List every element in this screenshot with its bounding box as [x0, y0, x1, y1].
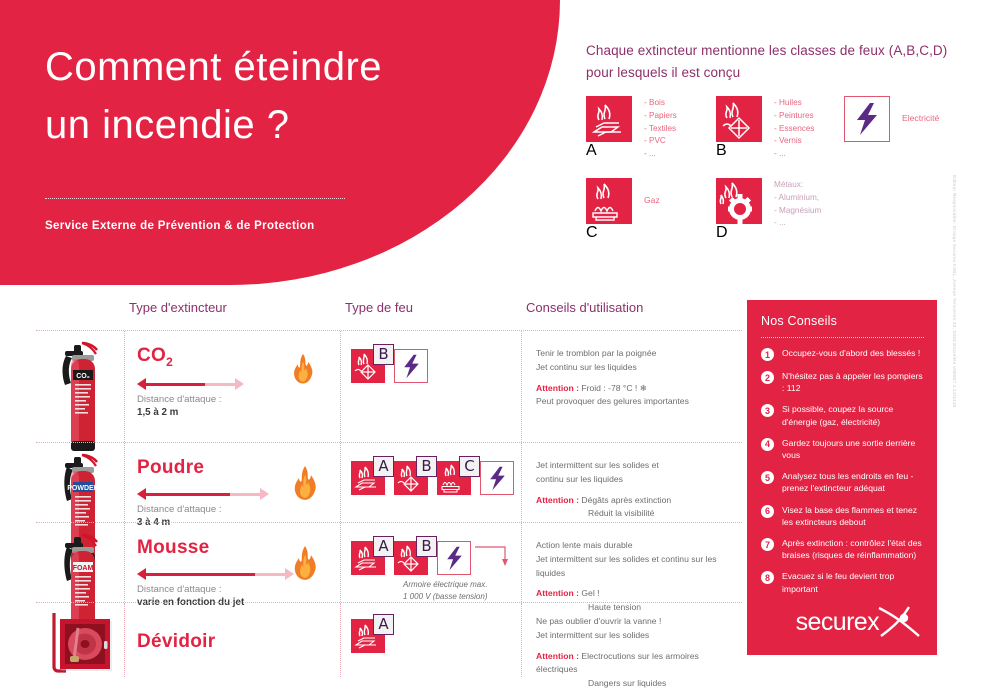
tip-text: Visez la base des flammes et tenez les e… — [782, 504, 924, 528]
tip-item: 1 Occupez-vous d'abord des blessés ! — [761, 347, 924, 361]
tip-item: 5 Analysez tous les endroits en feu - pr… — [761, 470, 924, 494]
advice-line: Jet intermittent sur les solides et cont… — [536, 553, 742, 567]
table-row: CO₂ CO2 Distance d'attaque : 1,5 à 2 m — [36, 330, 742, 442]
tip-text: N'hésitez pas à appeler les pompiers : 1… — [782, 370, 924, 394]
electric-cabinet-note: Armoire électrique max. 1 000 V (basse t… — [403, 579, 525, 602]
tip-text: Analysez tous les endroits en feu - pren… — [782, 470, 924, 494]
advice-line: continu sur les liquides — [536, 473, 742, 487]
fire-class-b: B - Huiles - Peintures - Essences - Vern… — [716, 96, 815, 161]
fire-class-d-bullets: Métaux: - Aluminium, - Magnésium - ... — [774, 178, 821, 230]
tips-panel: Nos Conseils 1 Occupez-vous d'abord des … — [747, 300, 937, 655]
tip-number: 6 — [761, 505, 774, 518]
extinguisher-name: Mousse — [137, 537, 289, 559]
fire-class-badge-letter: B — [416, 456, 437, 477]
fire-class-badge-b: B — [394, 541, 428, 575]
extinguisher-table: Type d'extincteur Type de feu Conseils d… — [36, 300, 742, 677]
warning-line: Attention : Froid : -78 °C ! ❄ — [536, 382, 742, 396]
brand-name: securex — [796, 608, 879, 637]
warning-label: Attention : — [536, 651, 579, 661]
page-title: Comment éteindre un incendie ? — [45, 38, 515, 154]
distance-value: 1,5 à 2 m — [137, 407, 289, 418]
fire-liquid-icon — [716, 96, 762, 142]
lightning-bolt-icon — [402, 354, 421, 379]
hero-subtitle: Service Externe de Prévention & de Prote… — [45, 220, 314, 232]
extinguisher-name: CO2 — [137, 345, 289, 369]
warning-label: Attention : — [536, 588, 579, 598]
tip-item: 4 Gardez toujours une sortie derrière vo… — [761, 437, 924, 461]
warning-line: Réduit la visibilité — [536, 507, 742, 521]
page-title-line1: Comment éteindre — [45, 38, 515, 96]
extinguisher-name: Poudre — [137, 457, 289, 479]
fire-hose-reel-icon — [44, 607, 122, 685]
attack-distance-arrow — [137, 378, 237, 390]
fire-class-badge-letter: B — [373, 344, 394, 365]
fire-class-b-bullets: - Huiles - Peintures - Essences - Vernis… — [774, 96, 815, 161]
publisher-credit: Editeur Responsable: Groupe Securex ASBL… — [952, 175, 957, 408]
tip-text: Après extinction : contrôlez l'état des … — [782, 537, 924, 561]
tips-divider — [761, 337, 924, 338]
fire-liquid-picto — [716, 96, 762, 142]
fire-class-a-picto-wrap: A — [586, 96, 632, 142]
warning-line: Attention : Dégâts après extinction — [536, 494, 742, 508]
fire-class-c-bullets: Gaz — [644, 178, 660, 205]
distance-label: Distance d'attaque : — [137, 584, 289, 595]
fire-class-b-picto-wrap: B — [716, 96, 762, 142]
fire-class-badge-letter: A — [373, 536, 394, 557]
page-title-line2: un incendie ? — [45, 96, 515, 154]
fire-class-badge-a: A — [351, 541, 385, 575]
table-row: POWDER Poudre Distance d'attaque : 3 à 4… — [36, 442, 742, 522]
fire-class-badge-letter: B — [416, 536, 437, 557]
advice-line: Jet continu sur les liquides — [536, 361, 742, 375]
extinguisher-name: Dévidoir — [137, 631, 289, 653]
attack-distance-arrow — [137, 568, 287, 580]
tip-text: Gardez toujours une sortie derrière vous — [782, 437, 924, 461]
table-header-row: Type d'extincteur Type de feu Conseils d… — [36, 300, 742, 330]
tip-text: Evacuez si le feu devient trop important — [782, 570, 924, 594]
advice-cell: Jet intermittent sur les solides etconti… — [526, 443, 742, 521]
fire-class-c: C Gaz — [586, 178, 660, 224]
lightning-bolt-icon — [488, 466, 507, 491]
fire-class-c-picto-wrap: C — [586, 178, 632, 224]
warning-line: Attention : Gel ! — [536, 587, 742, 601]
fire-class-badge-b: B — [394, 461, 428, 495]
advice-cell: Action lente mais durableJet intermitten… — [526, 523, 742, 615]
fire-class-badge-a: A — [351, 619, 385, 653]
svg-text:FOAM: FOAM — [73, 565, 94, 572]
distance-label: Distance d'attaque : — [137, 394, 289, 405]
fire-class-electric: Electricité — [844, 96, 939, 142]
advice-line: Action lente mais durable — [536, 539, 742, 553]
tip-number: 1 — [761, 348, 774, 361]
warning-line: Peut provoquer des gelures importantes — [536, 395, 742, 409]
extinguisher-image-cell — [36, 603, 126, 690]
advice-line: Jet intermittent sur les solides et — [536, 459, 742, 473]
tip-number: 2 — [761, 371, 774, 384]
fire-class-badge-c: C — [437, 461, 471, 495]
flame-cell — [289, 523, 345, 586]
extinguisher-info-cell: Dévidoir — [129, 603, 289, 653]
fire-metal-icon — [716, 178, 762, 224]
lightning-bolt-icon — [445, 546, 464, 571]
fire-class-b-letter: B — [716, 142, 762, 160]
fire-class-a-bullets: - Bois - Papiers - Textiles - PVC - ... — [644, 96, 677, 161]
flame-cell — [289, 331, 345, 389]
svg-text:POWDER: POWDER — [67, 485, 99, 492]
tip-text: Si possible, coupez la source d'énergie … — [782, 403, 924, 427]
fire-classes-title: Chaque extincteur mentionne les classes … — [586, 40, 966, 83]
flame-cell — [289, 443, 345, 506]
tip-item: 8 Evacuez si le feu devient trop importa… — [761, 570, 924, 594]
table-row: FOAM Mousse Distance d'attaque : varie e… — [36, 522, 742, 602]
fire-class-a-letter: A — [586, 142, 632, 160]
tip-number: 7 — [761, 538, 774, 551]
fire-class-badge-a: A — [351, 461, 385, 495]
column-header-advice: Conseils d'utilisation — [526, 300, 643, 315]
fire-class-d: D Métaux: - Aluminium, - Magnésium - ... — [716, 178, 821, 230]
fire-classes-grid: A - Bois - Papiers - Textiles - PVC - ..… — [586, 96, 966, 246]
advice-cell: Ne pas oublier d'ouvrir la vanne !Jet in… — [526, 603, 742, 691]
svg-text:CO₂: CO₂ — [76, 373, 90, 380]
tip-item: 3 Si possible, coupez la source d'énergi… — [761, 403, 924, 427]
tips-title: Nos Conseils — [761, 314, 924, 328]
fire-class-badge-letter: C — [459, 456, 480, 477]
fire-class-d-letter: D — [716, 224, 762, 242]
fire-type-cell: B — [345, 331, 525, 383]
fire-class-d-picto-wrap: D — [716, 178, 762, 224]
electricity-box — [844, 96, 890, 142]
brand-logo: securex — [796, 605, 921, 639]
advice-text: Ne pas oublier d'ouvrir la vanne !Jet in… — [536, 615, 742, 691]
advice-text: Jet intermittent sur les solides etconti… — [536, 459, 742, 521]
tip-number: 4 — [761, 438, 774, 451]
fire-wood-picto — [586, 96, 632, 142]
tip-text: Occupez-vous d'abord des blessés ! — [782, 347, 920, 361]
advice-line: liquides — [536, 567, 742, 581]
electric-cabinet-connector-icon — [473, 541, 517, 567]
advice-line: Jet intermittent sur les solides — [536, 629, 742, 643]
advice-text: Tenir le tromblon par la poignéeJet cont… — [536, 347, 742, 409]
fire-wood-icon — [586, 96, 632, 142]
warning-label: Attention : — [536, 383, 579, 393]
extinguisher-info-cell: Poudre Distance d'attaque : 3 à 4 m — [129, 443, 289, 528]
flame-icon — [289, 465, 321, 501]
fire-type-cell: A — [345, 603, 525, 653]
fire-class-badge-letter: A — [373, 614, 394, 635]
warning-line: Dangers sur liquides — [536, 677, 742, 691]
extinguisher-info-cell: Mousse Distance d'attaque : varie en fon… — [129, 523, 289, 608]
hero-banner: Comment éteindre un incendie ? Service E… — [0, 0, 560, 285]
advice-line: Tenir le tromblon par la poignée — [536, 347, 742, 361]
fire-class-a: A - Bois - Papiers - Textiles - PVC - ..… — [586, 96, 677, 161]
electricity-badge — [480, 461, 514, 495]
column-header-fire-type: Type de feu — [345, 300, 413, 315]
fire-type-cell: A B Armoire — [345, 523, 525, 602]
flame-icon — [289, 545, 321, 581]
poster-root: Comment éteindre un incendie ? Service E… — [0, 0, 987, 700]
warning-label: Attention : — [536, 495, 579, 505]
electricity-badge — [394, 349, 428, 383]
tip-item: 7 Après extinction : contrôlez l'état de… — [761, 537, 924, 561]
fire-type-cell: A B — [345, 443, 525, 495]
warning-line: Attention : Electrocutions sur les armoi… — [536, 650, 742, 678]
advice-line: Ne pas oublier d'ouvrir la vanne ! — [536, 615, 742, 629]
column-header-extinguisher: Type d'extincteur — [129, 300, 227, 315]
fire-gas-picto — [586, 178, 632, 224]
tip-number: 5 — [761, 471, 774, 484]
extinguisher-info-cell: CO2 Distance d'attaque : 1,5 à 2 m — [129, 331, 289, 418]
fire-class-c-letter: C — [586, 224, 632, 242]
fire-class-badge-b: B — [351, 349, 385, 383]
electricity-badge — [437, 541, 471, 575]
tip-item: 2 N'hésitez pas à appeler les pompiers :… — [761, 370, 924, 394]
tip-number: 8 — [761, 571, 774, 584]
electricity-label: Electricité — [902, 96, 939, 123]
securex-swoosh-icon — [877, 605, 921, 639]
hero-divider — [45, 198, 345, 199]
attack-distance-arrow — [137, 488, 262, 500]
table-body: CO₂ CO2 Distance d'attaque : 1,5 à 2 m — [36, 330, 742, 677]
tips-list: 1 Occupez-vous d'abord des blessés !2 N'… — [761, 347, 924, 595]
flame-cell — [289, 603, 345, 625]
fire-gas-icon — [586, 178, 632, 224]
flame-icon — [289, 353, 317, 384]
table-row: Dévidoir A Ne pas oublier d'ouvrir la va… — [36, 602, 742, 677]
tip-number: 3 — [761, 404, 774, 417]
tip-item: 6 Visez la base des flammes et tenez les… — [761, 504, 924, 528]
fire-class-badge-letter: A — [373, 456, 394, 477]
distance-label: Distance d'attaque : — [137, 504, 289, 515]
advice-cell: Tenir le tromblon par la poignéeJet cont… — [526, 331, 742, 409]
lightning-bolt-icon — [854, 102, 880, 136]
extinguisher-co2-icon: CO₂ — [52, 339, 104, 459]
fire-classes-section: Chaque extincteur mentionne les classes … — [586, 40, 966, 246]
fire-metal-picto — [716, 178, 762, 224]
